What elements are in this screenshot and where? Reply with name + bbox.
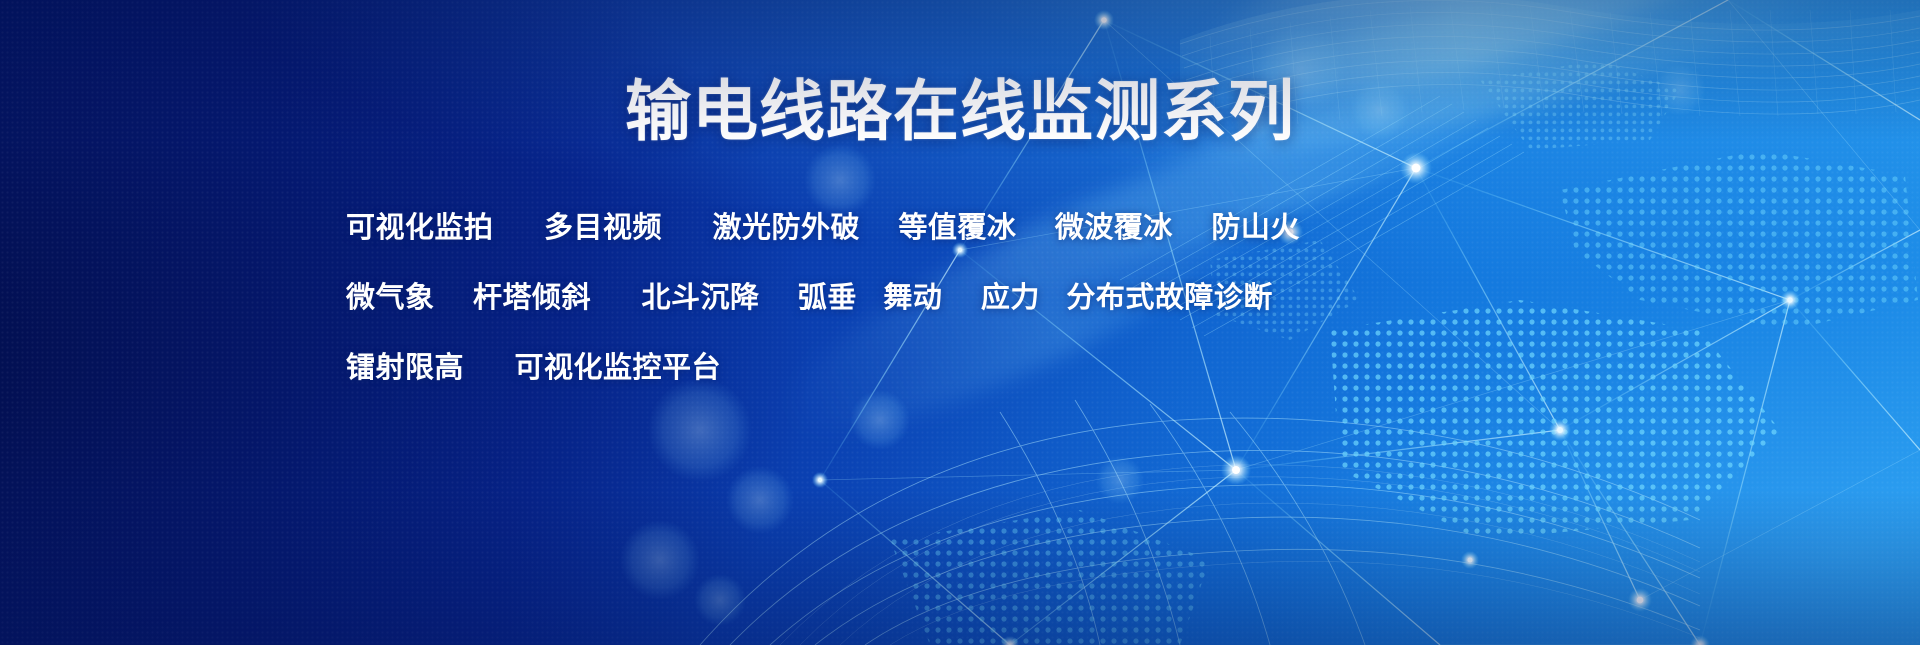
- feature-item-equivalent-icing[interactable]: 等值覆冰: [898, 206, 1016, 250]
- feature-item-distributed-fault[interactable]: 分布式故障诊断: [1066, 276, 1273, 320]
- feature-item-visual-platform[interactable]: 可视化监控平台: [514, 346, 721, 390]
- feature-item-stress[interactable]: 应力: [981, 276, 1040, 320]
- feature-item-multi-camera-video[interactable]: 多目视频: [544, 206, 662, 250]
- feature-row-3: 镭射限高 可视化监控平台: [346, 346, 1346, 390]
- feature-list: 可视化监拍 多目视频 激光防外破 等值覆冰 微波覆冰 防山火 微气象 杆塔倾斜 …: [346, 206, 1346, 390]
- feature-item-tower-tilt[interactable]: 杆塔倾斜: [473, 276, 591, 320]
- feature-item-beidou-settlement[interactable]: 北斗沉降: [641, 276, 759, 320]
- feature-item-microwave-icing[interactable]: 微波覆冰: [1055, 206, 1173, 250]
- feature-item-fire-prevention[interactable]: 防山火: [1211, 206, 1300, 250]
- feature-item-galloping[interactable]: 舞动: [883, 276, 942, 320]
- feature-item-laser-height-limit[interactable]: 镭射限高: [346, 346, 464, 390]
- promo-banner: 输电线路在线监测系列 可视化监拍 多目视频 激光防外破 等值覆冰 微波覆冰 防山…: [0, 0, 1920, 645]
- page-title: 输电线路在线监测系列: [0, 78, 1920, 144]
- feature-item-micro-meteorology[interactable]: 微气象: [346, 276, 435, 320]
- feature-item-sag[interactable]: 弧垂: [798, 276, 857, 320]
- feature-item-laser-anti-damage[interactable]: 激光防外破: [712, 206, 860, 250]
- feature-row-1: 可视化监拍 多目视频 激光防外破 等值覆冰 微波覆冰 防山火: [346, 206, 1346, 250]
- feature-row-2: 微气象 杆塔倾斜 北斗沉降 弧垂 舞动 应力 分布式故障诊断: [346, 276, 1346, 320]
- feature-item-visual-monitoring[interactable]: 可视化监拍: [346, 206, 494, 250]
